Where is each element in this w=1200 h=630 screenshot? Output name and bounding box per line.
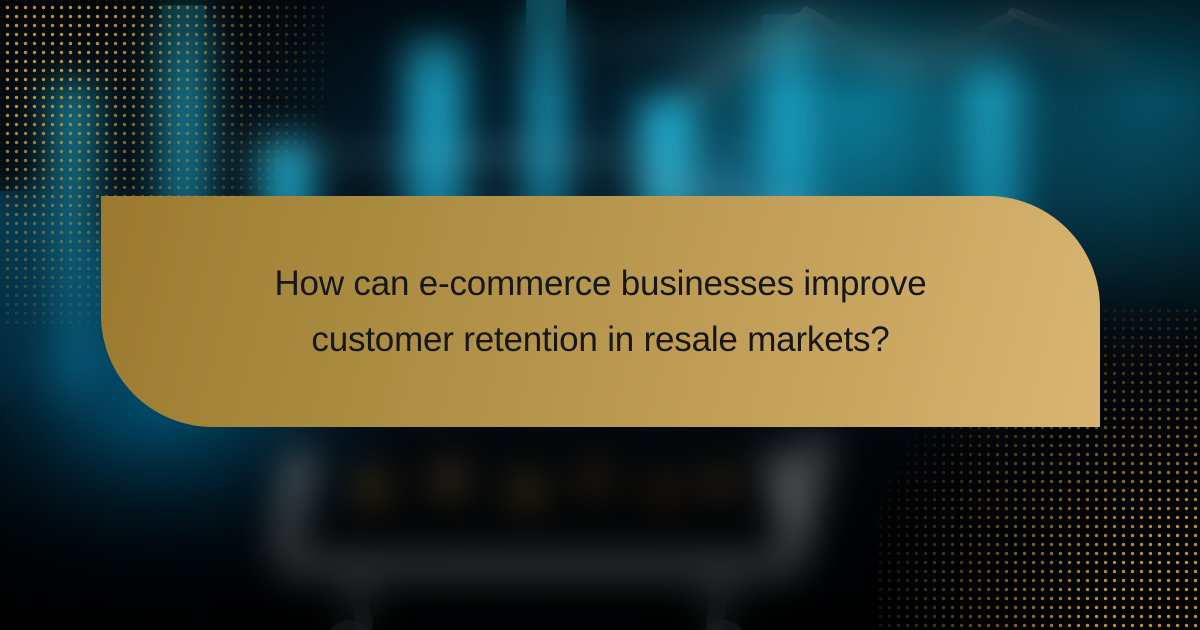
- og-image-canvas: How can e-commerce businesses improve cu…: [0, 0, 1200, 630]
- question-text: How can e-commerce businesses improve cu…: [211, 256, 991, 368]
- question-card: How can e-commerce businesses improve cu…: [101, 196, 1100, 427]
